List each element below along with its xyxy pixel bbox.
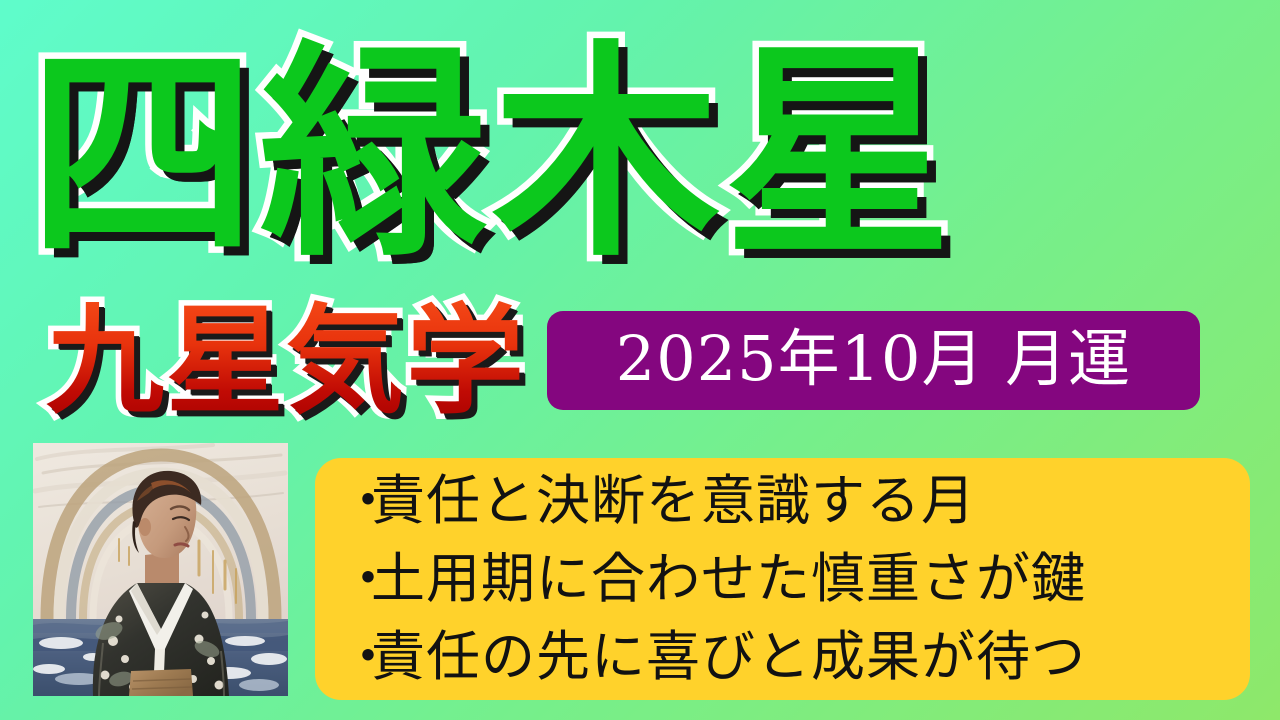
period-badge: 2025年10月 月運 — [547, 311, 1200, 410]
highlight-text-3: 責任の先に喜びと成果が待つ — [371, 618, 1086, 696]
highlight-text-2: 土用期に合わせた慎重さが鍵 — [371, 540, 1086, 618]
portrait-artwork — [33, 443, 288, 696]
highlight-text-1: 責任と決断を意識する月 — [371, 462, 976, 540]
thumbnail-canvas: 四緑木星 九星気学 九星気学 2025年10月 月運 — [0, 0, 1280, 720]
main-title: 四緑木星 — [28, 18, 1148, 288]
highlights-box: ・ 責任と決断を意識する月 ・ 土用期に合わせた慎重さが鍵 ・ 責任の先に喜びと… — [315, 458, 1250, 700]
period-badge-label: 2025年10月 月運 — [616, 328, 1131, 394]
highlight-item-1: ・ 責任と決断を意識する月 — [341, 462, 1226, 540]
bullet-marker: ・ — [341, 540, 371, 618]
main-title-text: 四緑木星 — [28, 39, 956, 267]
highlight-item-2: ・ 土用期に合わせた慎重さが鍵 — [341, 540, 1226, 618]
bullet-marker: ・ — [341, 618, 371, 696]
subtitle-text: 九星気学 — [46, 290, 526, 432]
bullet-marker: ・ — [341, 462, 371, 540]
highlight-item-3: ・ 責任の先に喜びと成果が待つ — [341, 618, 1226, 696]
portrait-image — [33, 443, 288, 696]
